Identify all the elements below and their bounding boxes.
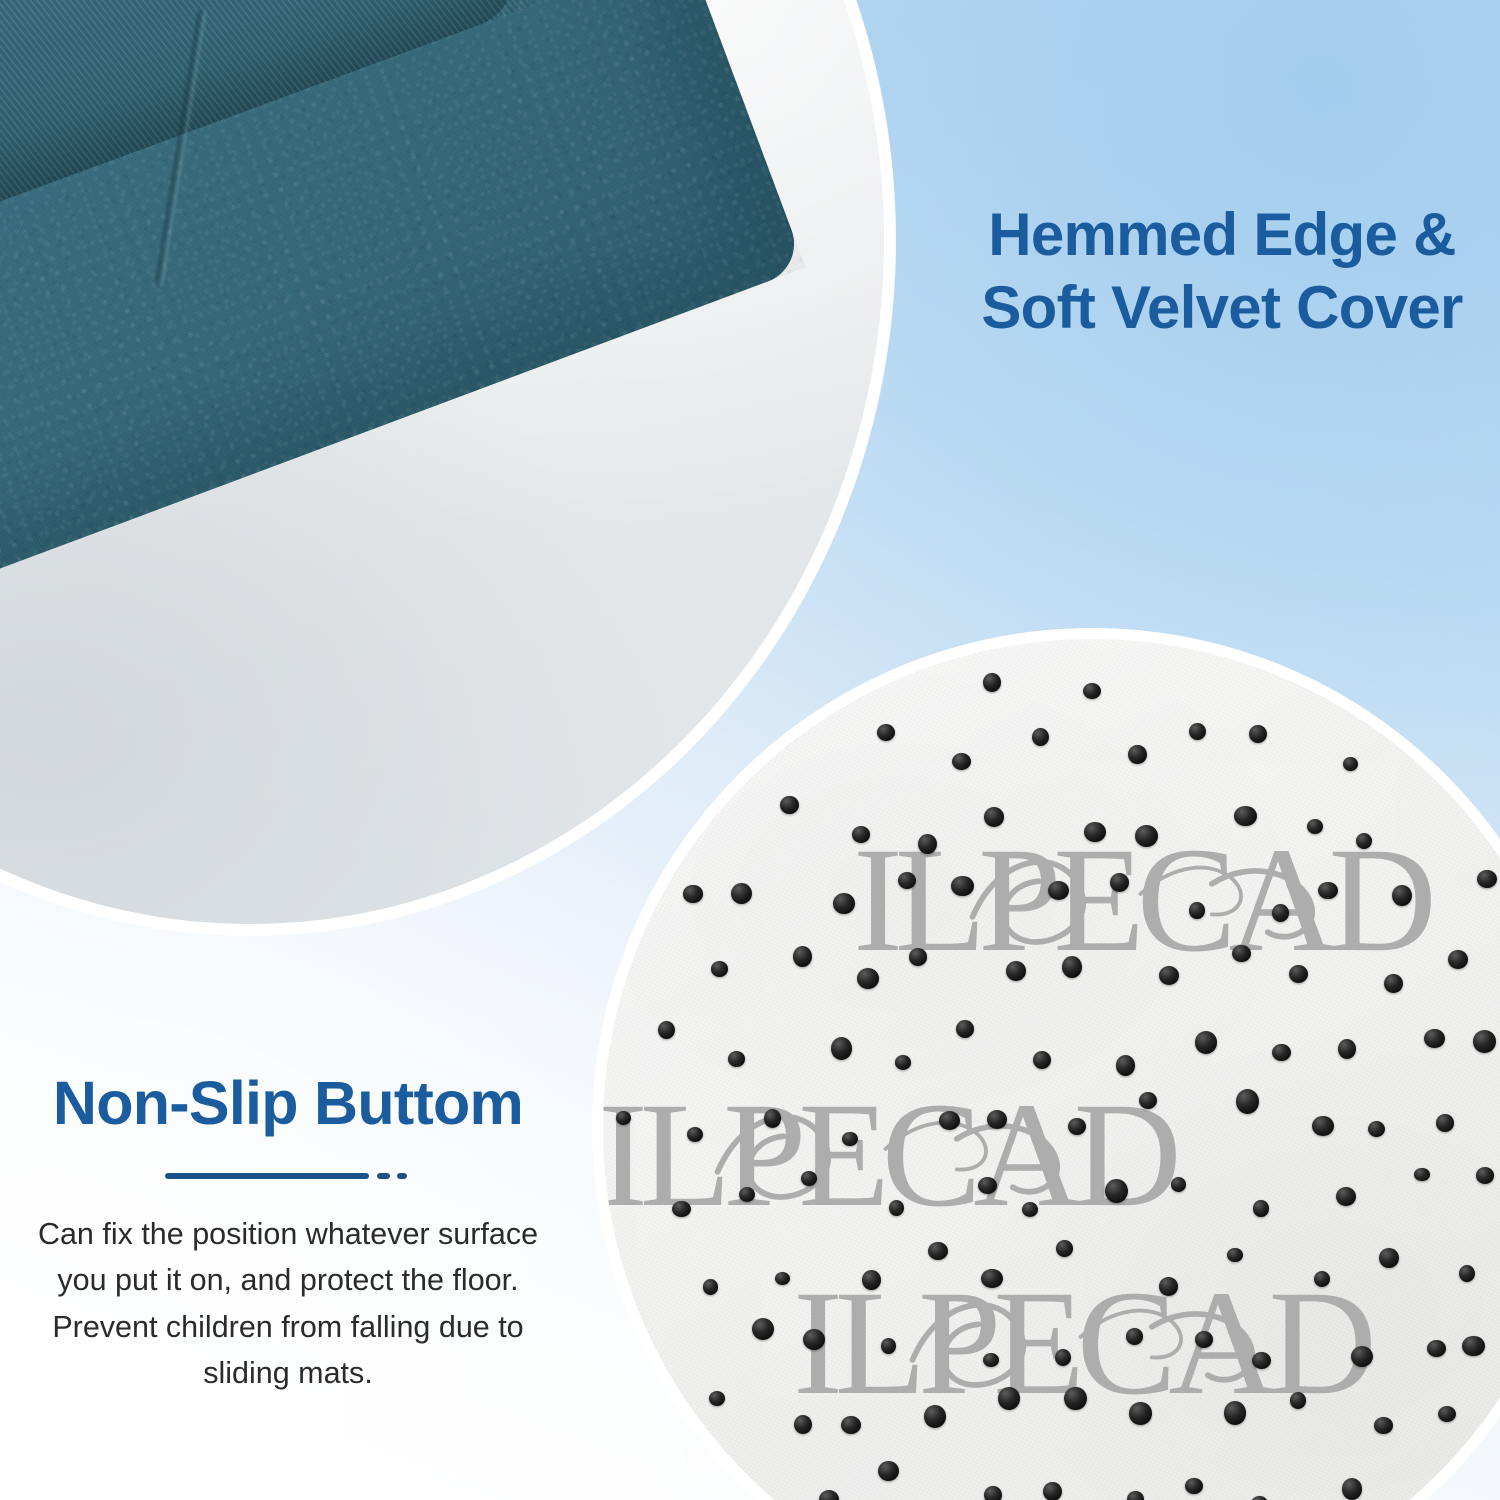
grip-dot <box>1110 873 1129 892</box>
grip-dot <box>1033 1051 1051 1069</box>
grip-dot <box>877 724 895 741</box>
grip-dot <box>775 1272 790 1285</box>
grip-dot <box>728 1051 745 1067</box>
grip-dot <box>803 1329 825 1350</box>
grip-dot <box>1159 966 1180 985</box>
grip-dot <box>1048 881 1069 900</box>
section-divider <box>12 1159 564 1193</box>
grip-dot <box>1068 1118 1086 1135</box>
grip-dot <box>703 1279 718 1294</box>
body-line-4: sliding mats. <box>12 1350 564 1396</box>
grip-dot <box>616 1111 631 1125</box>
grip-dot <box>889 1200 904 1216</box>
grip-dot <box>1290 1392 1307 1409</box>
body-line-1: Can fix the position whatever surface <box>12 1211 564 1257</box>
grip-dot <box>1234 806 1257 826</box>
grip-dot <box>1171 1177 1186 1192</box>
grip-dot <box>1159 1277 1178 1295</box>
headline-line-1: Hemmed Edge & <box>962 198 1482 271</box>
grip-dot <box>1312 1116 1334 1136</box>
grip-dot <box>1128 745 1146 764</box>
grip-dot <box>1473 1030 1496 1052</box>
grip-dot <box>1424 1029 1444 1048</box>
grip-dot <box>841 1416 861 1434</box>
non-slip-heading: Non-Slip Buttom <box>12 1070 564 1137</box>
grip-dot <box>1064 1387 1086 1411</box>
grip-dot <box>1476 1167 1494 1184</box>
grip-dot <box>1056 1240 1074 1257</box>
grip-dot <box>983 1353 999 1367</box>
grip-dot <box>831 1037 853 1060</box>
grip-dot <box>1022 1202 1038 1217</box>
grip-dot <box>731 883 752 904</box>
non-slip-mat-photo-panel: ILPECAD ILPECAD ILPE <box>592 628 1500 1500</box>
grip-dot <box>1379 1248 1399 1268</box>
grip-dot <box>1392 885 1412 906</box>
grip-dot <box>1195 1331 1213 1348</box>
non-slip-body-copy: Can fix the position whatever surface yo… <box>12 1211 564 1396</box>
grip-dot <box>1032 728 1049 746</box>
grip-dot <box>1374 1417 1393 1434</box>
grip-dot <box>1459 1265 1475 1282</box>
headline-line-2: Soft Velvet Cover <box>962 271 1482 344</box>
divider-dash-2 <box>397 1173 407 1179</box>
grip-dot <box>981 1269 1003 1288</box>
grip-dot <box>898 872 917 890</box>
grip-dot <box>793 946 812 967</box>
grip-dot <box>833 893 855 914</box>
grip-dot <box>672 1201 691 1218</box>
grip-dot <box>1307 819 1323 834</box>
body-line-2: you put it on, and protect the floor. <box>12 1257 564 1303</box>
grip-dot <box>739 1187 755 1202</box>
grip-dot <box>1336 1187 1356 1206</box>
divider-dash-1 <box>377 1173 390 1179</box>
grip-dot <box>1356 833 1372 849</box>
grip-dot <box>1338 1039 1357 1059</box>
grip-dot <box>951 876 974 897</box>
grip-dot <box>1083 683 1101 699</box>
grip-dot <box>1438 1406 1456 1422</box>
grip-dot <box>978 1177 997 1194</box>
grip-dot <box>1126 1328 1143 1345</box>
grip-dot <box>895 1055 911 1070</box>
grip-dots-layer <box>603 639 1500 1500</box>
grip-dot <box>1448 950 1468 969</box>
product-feature-infographic: ILPECAD ILPECAD ILPE <box>0 0 1500 1500</box>
grip-dot <box>1105 1179 1128 1203</box>
grip-dot <box>1139 1092 1157 1109</box>
grip-dot <box>1252 1352 1271 1369</box>
grip-dot <box>780 796 799 815</box>
non-slip-mat-photo: ILPECAD ILPECAD ILPE <box>603 639 1500 1500</box>
grip-dot <box>1185 1478 1202 1494</box>
grip-dot <box>1436 1114 1454 1132</box>
grip-dot <box>1043 1482 1061 1500</box>
grip-dot <box>1236 1089 1259 1114</box>
grip-dot <box>1251 1496 1268 1500</box>
grip-dot <box>998 1387 1020 1409</box>
grip-dot <box>819 1490 839 1500</box>
grip-dot <box>1135 825 1158 847</box>
grip-dot <box>1006 961 1026 981</box>
grip-dot <box>918 834 937 854</box>
grip-dot <box>956 1020 974 1038</box>
grip-dot <box>1318 882 1338 900</box>
grip-dot <box>1427 1340 1446 1357</box>
grip-dot <box>1384 974 1403 994</box>
grip-dot <box>1289 965 1308 983</box>
grip-dot <box>1232 945 1251 962</box>
grip-dot <box>1314 1271 1330 1288</box>
divider-bar <box>165 1173 369 1179</box>
grip-dot <box>752 1318 774 1340</box>
grip-dot <box>658 1021 675 1039</box>
hemmed-edge-headline: Hemmed Edge & Soft Velvet Cover <box>962 198 1482 344</box>
grip-dot <box>1224 1401 1246 1424</box>
grip-dot <box>881 1338 896 1354</box>
grip-dot <box>1127 1491 1143 1500</box>
grip-dot <box>1342 1478 1362 1500</box>
grip-dot <box>1189 723 1206 740</box>
grip-dot <box>794 1415 812 1434</box>
grip-dot <box>687 1127 703 1142</box>
grip-dot <box>1272 904 1289 922</box>
grip-dot <box>952 753 971 770</box>
grip-dot <box>939 1111 960 1130</box>
grip-dot <box>801 1171 817 1186</box>
grip-dot <box>1249 725 1267 743</box>
grip-dot <box>984 1486 1001 1500</box>
grip-dot <box>983 673 1001 692</box>
grip-dot <box>909 948 928 966</box>
grip-dot <box>1055 1349 1072 1366</box>
grip-dot <box>924 1405 946 1428</box>
grip-dot <box>878 1461 899 1481</box>
grip-dot <box>683 885 702 902</box>
grip-dot <box>857 968 879 989</box>
grip-dot <box>1129 1402 1151 1424</box>
grip-dot <box>1477 870 1497 888</box>
grip-dot <box>852 826 871 843</box>
non-slip-text-block: Non-Slip Buttom Can fix the position wha… <box>12 1070 564 1397</box>
grip-dot <box>1253 1200 1268 1217</box>
grip-dot <box>711 961 728 977</box>
grip-dot <box>1272 1044 1291 1061</box>
grip-dot <box>1195 1031 1218 1054</box>
grip-dot <box>1368 1121 1385 1137</box>
grip-dot <box>1189 902 1205 919</box>
grip-dot <box>862 1270 881 1290</box>
grip-dot <box>984 807 1004 827</box>
grip-dot <box>1227 1248 1243 1262</box>
grip-dot <box>1351 1346 1373 1367</box>
grip-dot <box>1062 956 1082 978</box>
grip-dot <box>928 1242 948 1260</box>
grip-dot <box>1414 1168 1429 1181</box>
grip-dot <box>1084 822 1106 843</box>
grip-dot <box>709 1391 725 1406</box>
grip-dot <box>987 1110 1007 1129</box>
grip-dot <box>842 1132 858 1147</box>
grip-dot <box>1462 1336 1484 1357</box>
body-line-3: Prevent children from falling due to <box>12 1304 564 1350</box>
grip-dot <box>1116 1055 1136 1076</box>
grip-dot <box>1343 757 1358 771</box>
grip-dot <box>764 1109 782 1128</box>
